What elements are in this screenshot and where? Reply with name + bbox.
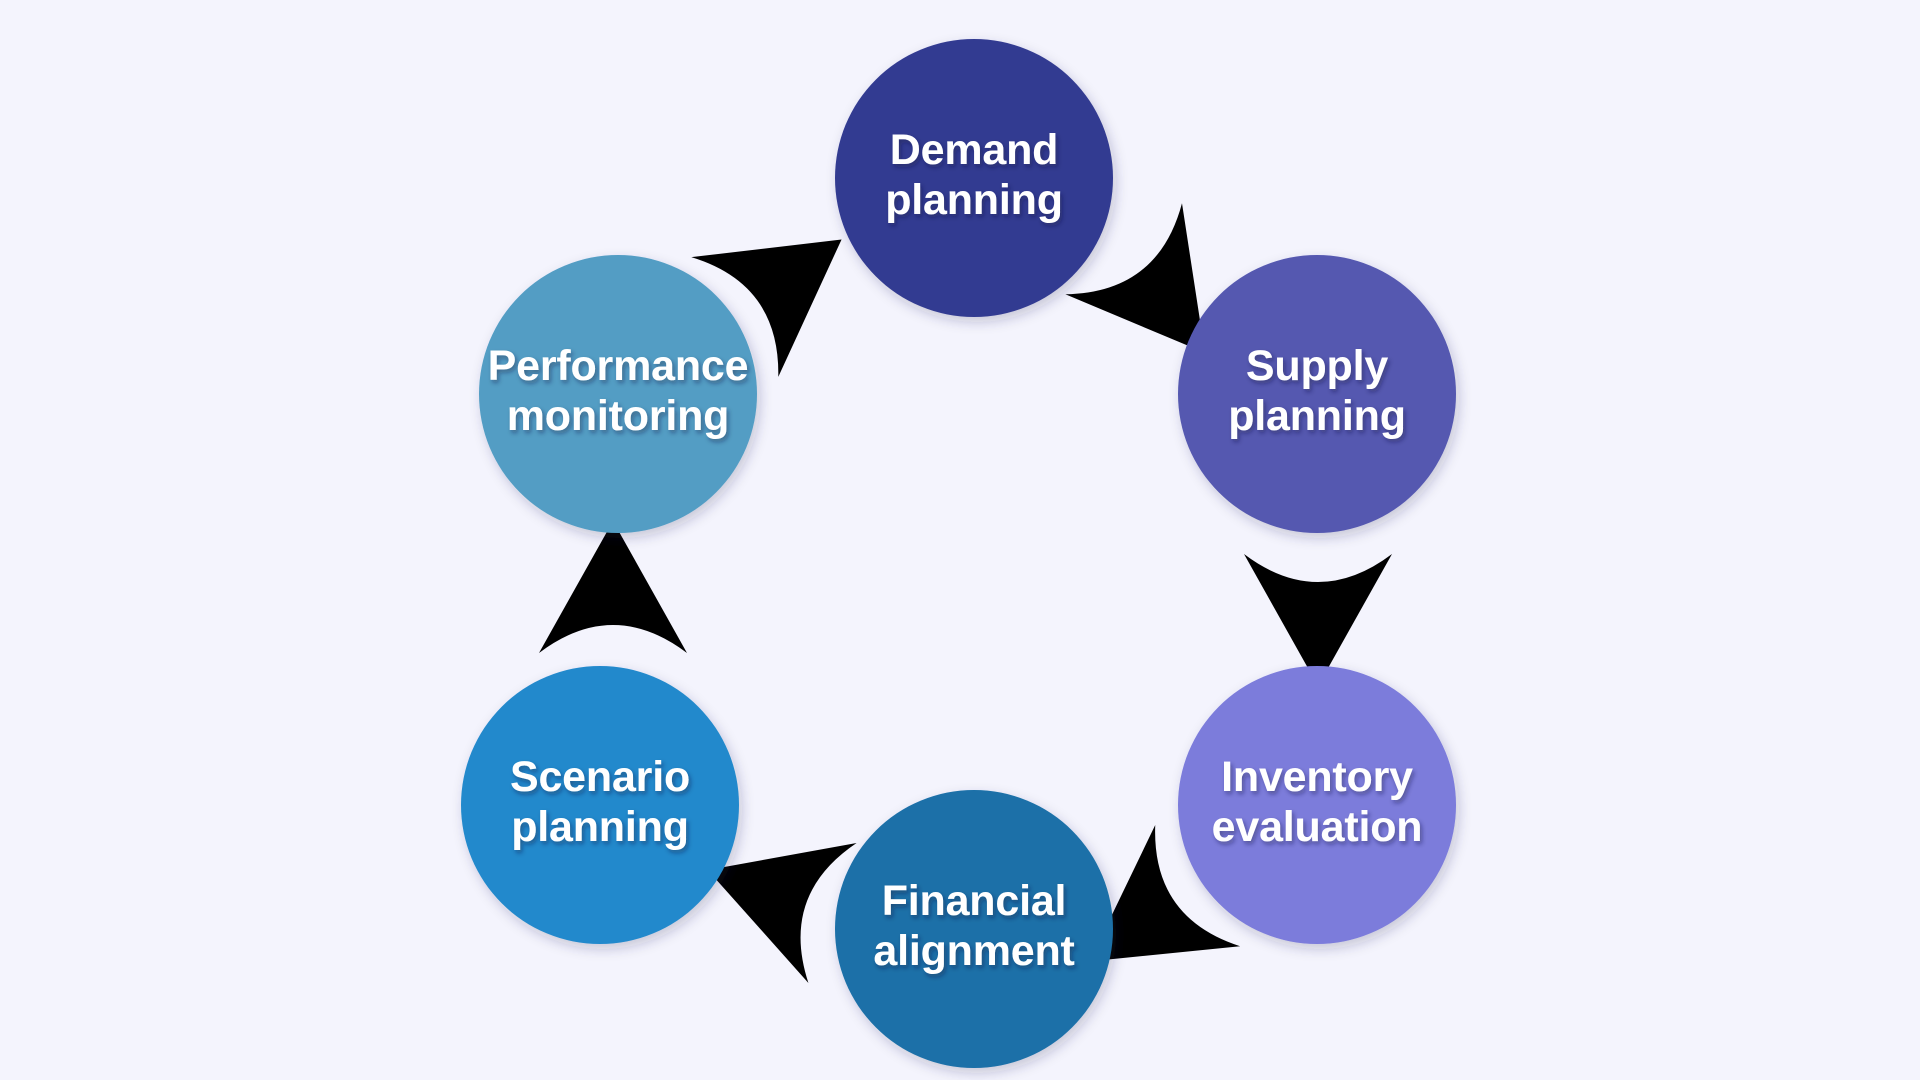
node-demand-planning[interactable]: Demandplanning	[835, 39, 1113, 317]
arrow-scenario-to-performance	[539, 521, 687, 653]
node-label-line2: planning	[885, 176, 1063, 224]
node-label-line2: planning	[511, 803, 689, 851]
node-label-line1: Financial	[882, 877, 1067, 925]
node-label-line2: planning	[1228, 392, 1406, 440]
node-label-line1: Scenario	[510, 753, 690, 801]
node-label-line2: monitoring	[507, 392, 730, 440]
node-label-line1: Supply	[1246, 342, 1388, 390]
node-label-line2: evaluation	[1212, 803, 1423, 851]
node-financial-alignment[interactable]: Financialalignment	[835, 790, 1113, 1068]
node-label-line1: Performance	[488, 342, 749, 390]
node-performance-monitoring[interactable]: Performancemonitoring	[479, 255, 757, 533]
node-scenario-planning[interactable]: Scenarioplanning	[461, 666, 739, 944]
node-label-line2: alignment	[873, 927, 1074, 975]
cycle-diagram-canvas: DemandplanningSupplyplanningInventoryeva…	[0, 0, 1920, 1080]
cycle-diagram-svg: DemandplanningSupplyplanningInventoryeva…	[0, 0, 1920, 1080]
node-label-line1: Demand	[890, 126, 1058, 174]
arrowhead-icon	[539, 521, 687, 653]
node-label-line1: Inventory	[1221, 753, 1413, 801]
node-inventory-evaluation[interactable]: Inventoryevaluation	[1178, 666, 1456, 944]
node-supply-planning[interactable]: Supplyplanning	[1178, 255, 1456, 533]
